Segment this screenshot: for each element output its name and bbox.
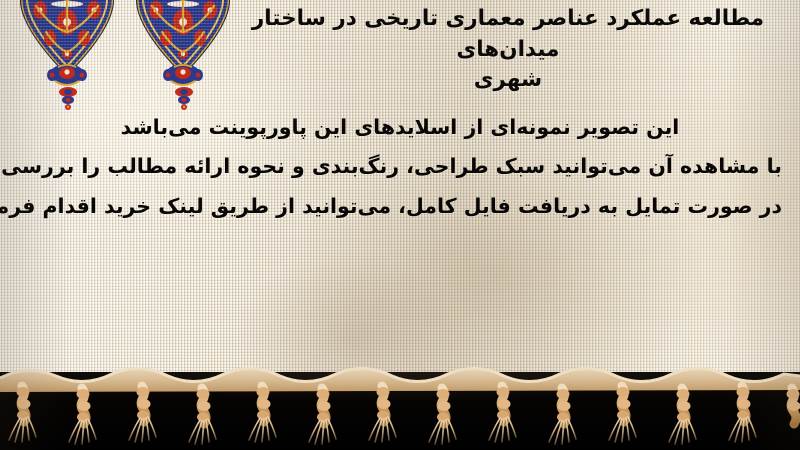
presentation-slide: مطالعه عملکرد عناصر معماری تاریخی در ساخ… bbox=[0, 0, 800, 450]
slide-title-line-1: مطالعه عملکرد عناصر معماری تاریخی در ساخ… bbox=[230, 4, 786, 65]
slide-body-line-2: با مشاهده آن می‌توانید سبک طراحی، رنگ‌بن… bbox=[18, 147, 782, 186]
slide-body-line-3: در صورت تمایل به دریافت فایل کامل، می‌تو… bbox=[18, 187, 782, 226]
slide-body-text: این تصویر نمونه‌ای از اسلایدهای این پاور… bbox=[18, 108, 782, 226]
black-backdrop-band bbox=[0, 372, 800, 450]
slide-body-line-1: این تصویر نمونه‌ای از اسلایدهای این پاور… bbox=[18, 108, 782, 147]
slide-title-line-2: شهری bbox=[230, 65, 786, 96]
slide-title: مطالعه عملکرد عناصر معماری تاریخی در ساخ… bbox=[230, 4, 786, 96]
